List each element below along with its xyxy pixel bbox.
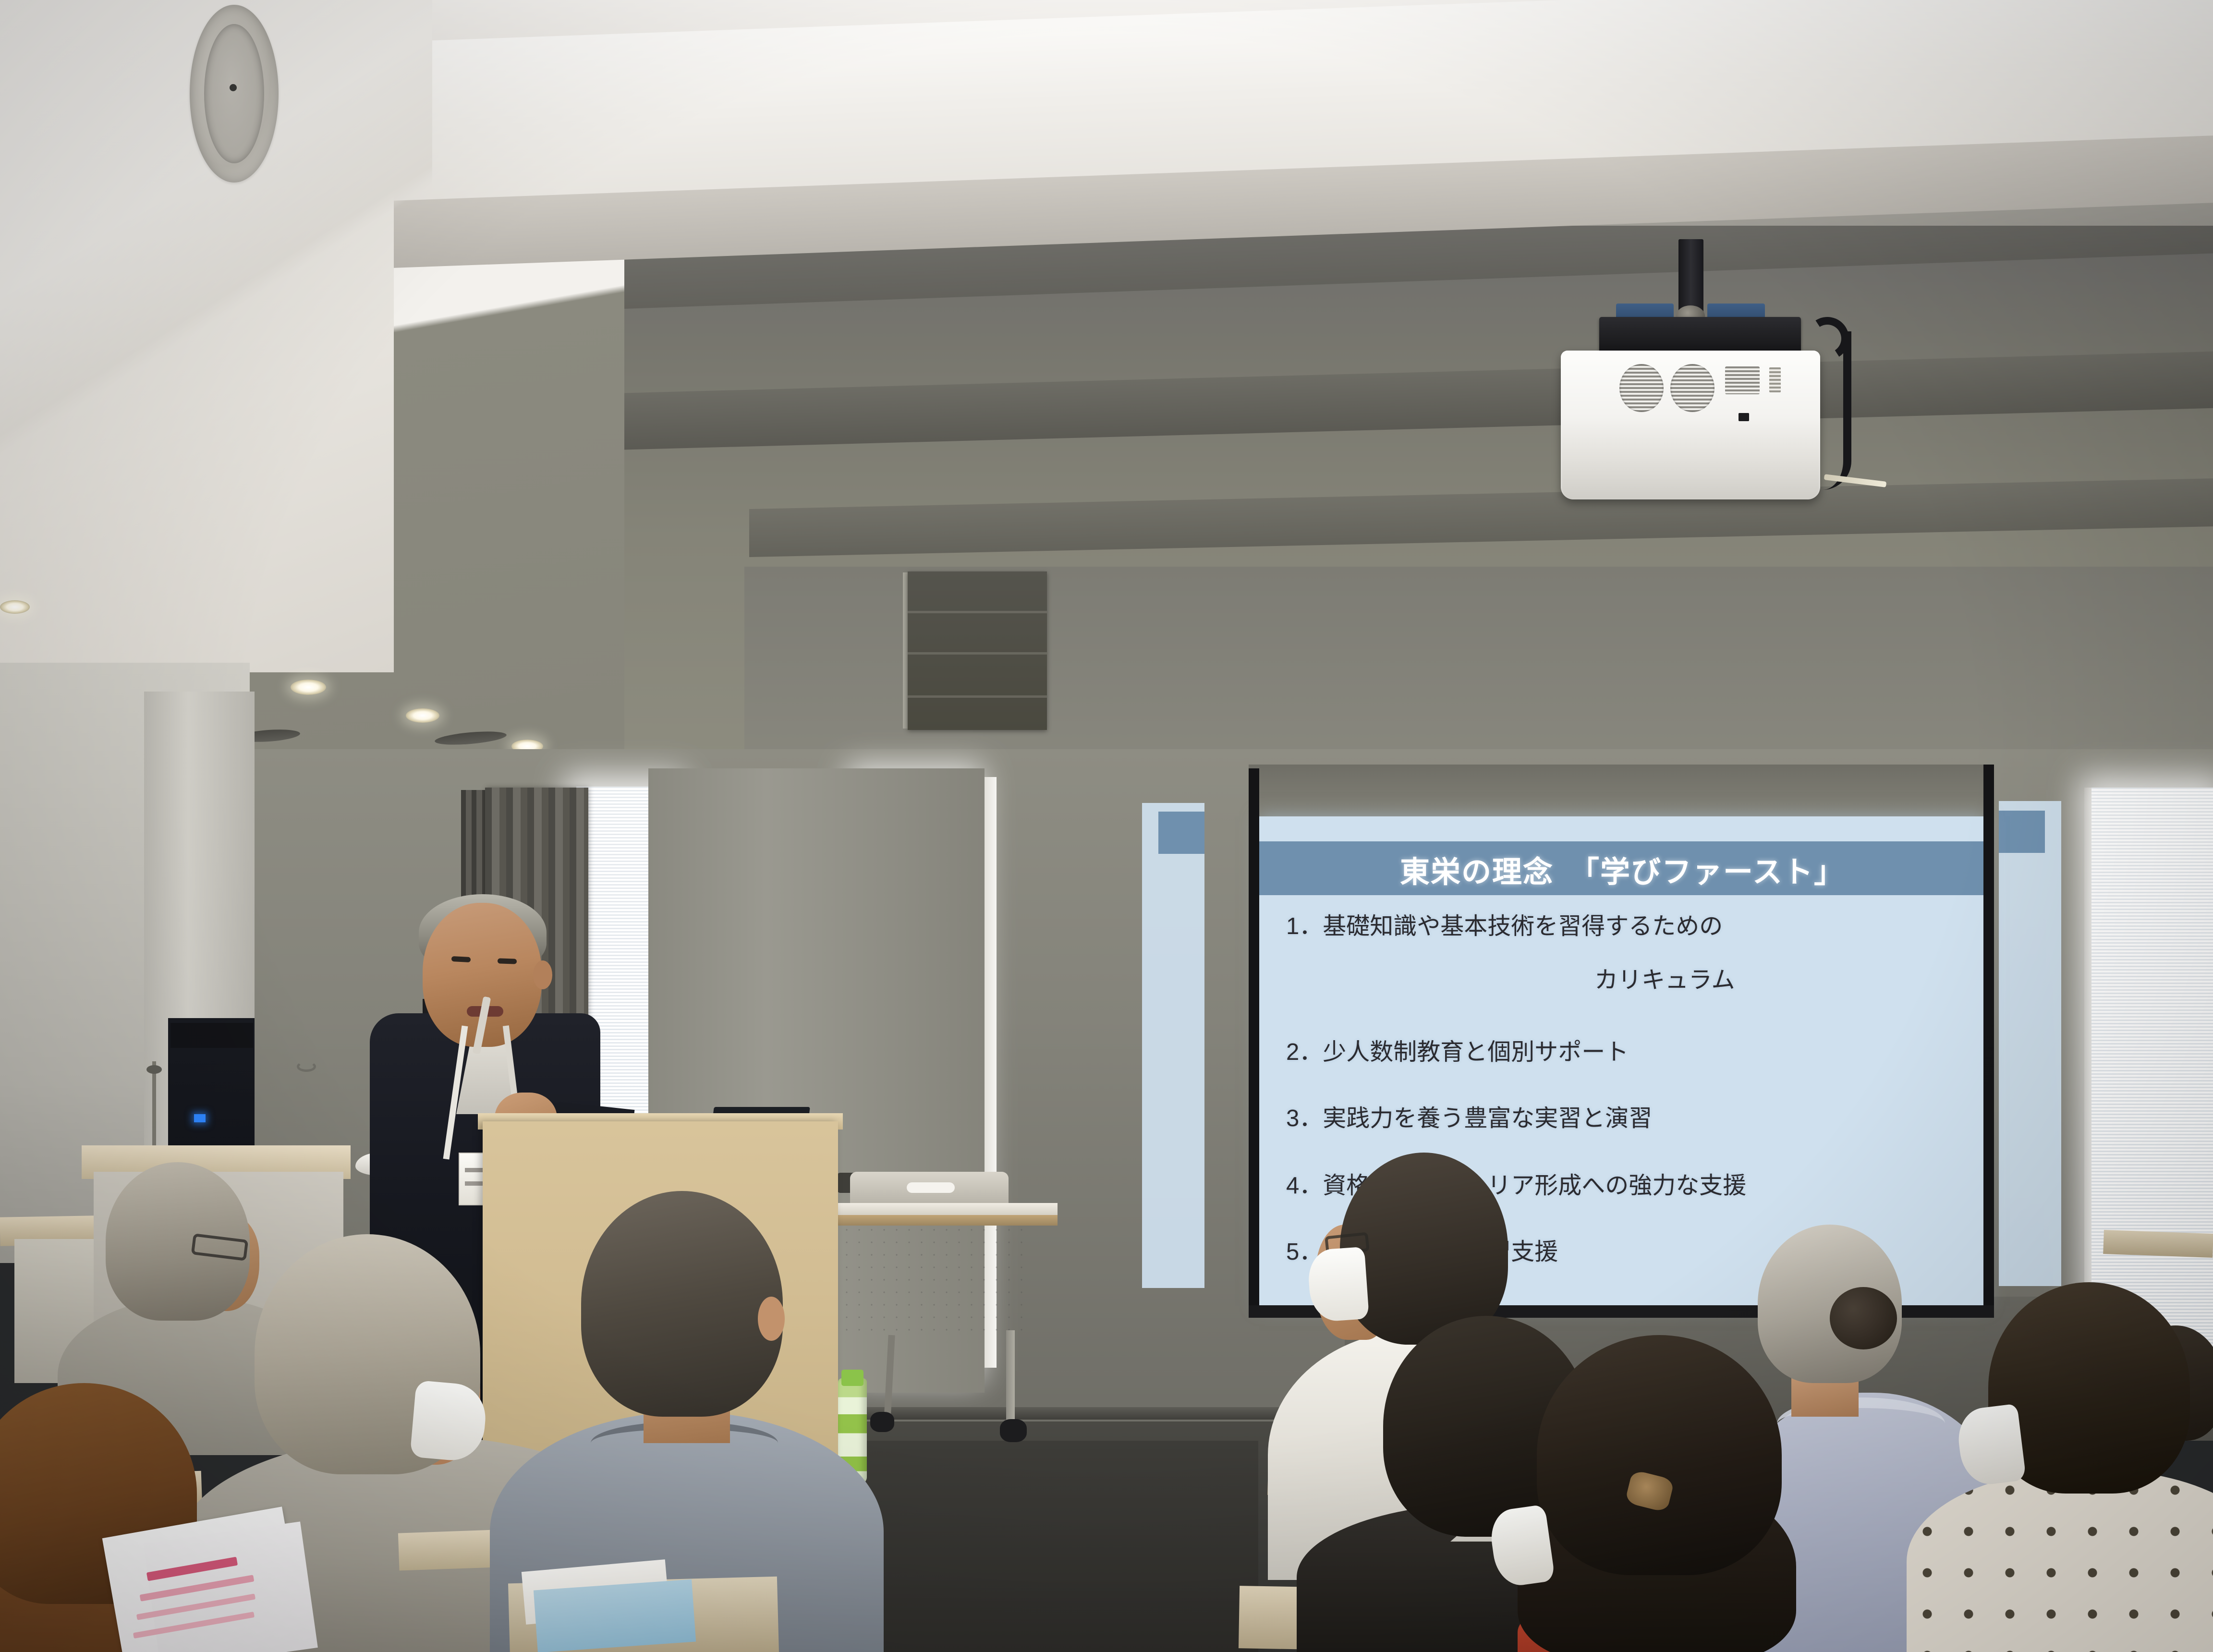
folding-table-caster-1	[870, 1412, 894, 1432]
air-vent-icon	[908, 571, 1047, 730]
seminar-room-photo: 東栄の理念 「学びファースト」 1．基礎知識や基本技術を習得するための カリキュ…	[0, 0, 2213, 1652]
presenter-eye-right	[498, 958, 517, 964]
audience-b3-head	[1537, 1335, 1782, 1575]
projector-vent-4	[1769, 367, 1781, 392]
projector-vent-2	[1670, 364, 1714, 412]
handout-blue[interactable]	[534, 1579, 696, 1652]
air-vent-slat-1	[908, 611, 1047, 613]
screen-frame-right	[1983, 765, 1994, 1317]
slide-bullet-3: 3．実践力を養う豊富な実習と演習	[1286, 1107, 1652, 1130]
projector-vent-1	[1619, 364, 1664, 412]
presenter-eye-left	[451, 956, 471, 962]
screen-top-shadow	[1249, 765, 1994, 821]
screen-frame-left	[1249, 768, 1259, 1316]
wall-hook-icon	[297, 1061, 316, 1072]
slide-bullet-1-cont: カリキュラム	[1594, 969, 1735, 992]
audience-b4-hair-bun	[1830, 1287, 1897, 1349]
projection-overflow-right-accent	[1999, 811, 2045, 853]
folding-table-leg-2	[1006, 1330, 1015, 1431]
folding-table-modesty-panel	[840, 1224, 1033, 1339]
downlight-icon-2	[406, 708, 439, 723]
air-vent-slat-2	[908, 652, 1047, 655]
floor-front	[826, 1441, 1258, 1652]
projector-ir-sensor	[1739, 413, 1749, 421]
projector-vent-3	[1725, 366, 1760, 394]
av-rack-top-panel	[170, 1023, 253, 1048]
slide-title: 東栄の理念 「学びファースト」	[1259, 846, 1985, 892]
audience-a4-ear	[758, 1297, 785, 1341]
projection-overflow-left	[1142, 803, 1204, 1288]
slide-bullet-1: 1．基礎知識や基本技術を習得するための	[1286, 915, 1723, 938]
downlight-icon-4	[0, 600, 30, 614]
projection-overflow-left-accent	[1158, 812, 1204, 854]
white-chair-handle-slot	[907, 1182, 955, 1193]
handout-pink-front[interactable]	[143, 1521, 318, 1652]
projection-overflow-right	[1999, 801, 2061, 1286]
folding-table-caster-2	[1000, 1419, 1027, 1442]
stand-pole-cap	[146, 1065, 162, 1074]
window-right	[2091, 788, 2213, 1359]
ceiling-speaker-screw	[230, 84, 237, 91]
air-vent-slat-3	[908, 695, 1047, 698]
ceiling-speaker-inner	[204, 24, 264, 163]
power-led-icon	[194, 1114, 206, 1122]
presenter-ear	[533, 960, 552, 989]
drink-bottle-cap[interactable]	[841, 1370, 863, 1386]
far-right-desk	[2103, 1230, 2213, 1258]
audience-a4-head	[581, 1191, 783, 1417]
downlight-icon-1	[291, 680, 326, 695]
slide-bullet-2: 2．少人数制教育と個別サポート	[1286, 1041, 1629, 1064]
